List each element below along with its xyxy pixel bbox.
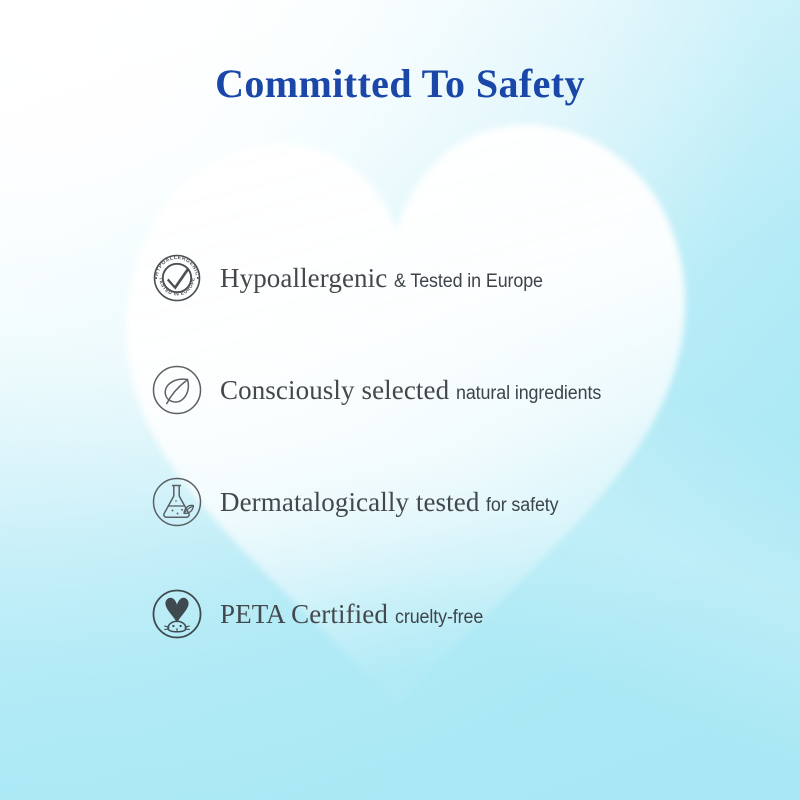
feature-list: HYPOALLERGENIC TESTED IN EUROPE Hypoalle… [146,248,786,644]
feature-text-hypoallergenic: Hypoallergenic & Tested in Europe [220,265,553,292]
feature-text-dermatologically-tested: Dermatalogically tested for safety [220,489,564,516]
feature-primary-label: Consciously selected [220,377,449,404]
hypoallergenic-badge-icon: HYPOALLERGENIC TESTED IN EUROPE [146,247,208,309]
svg-text:HYPOALLERGENIC: HYPOALLERGENIC [154,255,200,277]
feature-secondary-label: cruelty-free [395,608,483,627]
feature-row-hypoallergenic: HYPOALLERGENIC TESTED IN EUROPE Hypoalle… [146,248,786,308]
feature-secondary-label: & Tested in Europe [394,272,543,291]
feature-primary-label: Dermatalogically tested [220,489,479,516]
feature-primary-label: Hypoallergenic [220,265,387,292]
feature-row-peta-certified: PETA Certified cruelty-free [146,584,786,644]
flask-leaf-icon [146,471,208,533]
feature-secondary-label: natural ingredients [456,384,601,403]
feature-primary-label: PETA Certified [220,601,388,628]
feature-secondary-label: for safety [486,496,559,515]
feature-row-dermatologically-tested: Dermatalogically tested for safety [146,472,786,532]
peta-bunny-heart-icon [146,583,208,645]
feature-text-natural-ingredients: Consciously selected natural ingredients [220,377,611,404]
leaf-icon [146,359,208,421]
safety-infographic: Committed To Safety HYPOALLERGENIC [0,0,800,800]
page-title: Committed To Safety [0,60,800,108]
feature-text-peta-certified: PETA Certified cruelty-free [220,601,489,628]
feature-row-natural-ingredients: Consciously selected natural ingredients [146,360,786,420]
